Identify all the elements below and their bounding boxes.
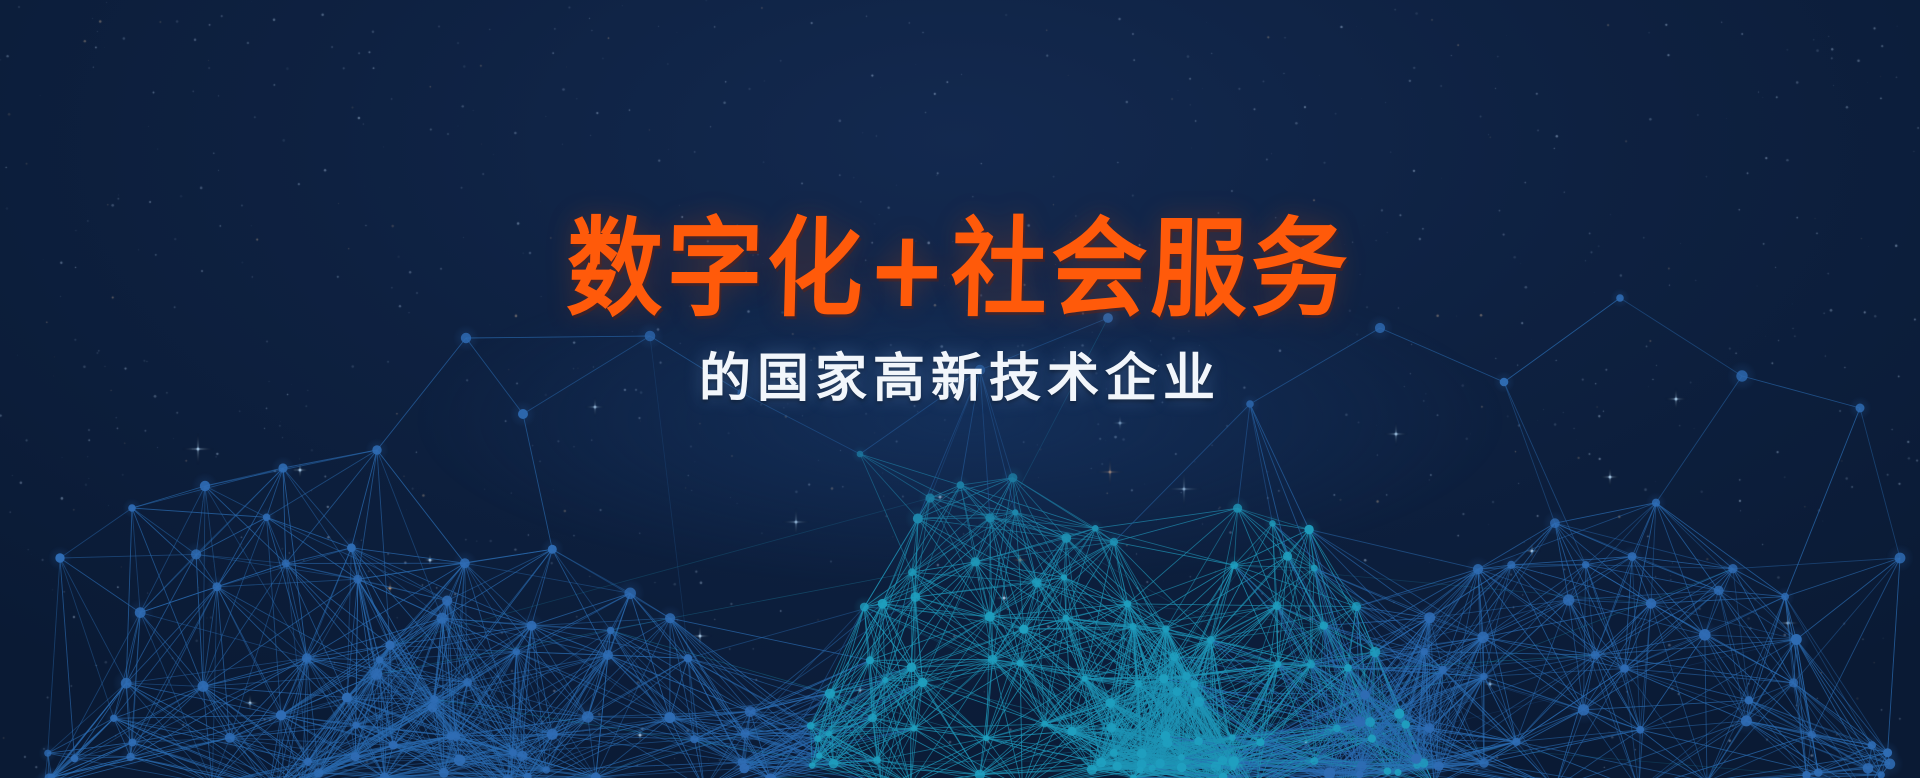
mesh-node: [191, 549, 201, 559]
mesh-node: [1233, 504, 1242, 513]
mesh-node: [314, 768, 324, 778]
mesh-node: [1646, 598, 1656, 608]
mesh-node: [371, 669, 382, 680]
mesh-node: [1424, 723, 1434, 733]
mesh-node: [913, 514, 923, 524]
mesh-node: [1368, 735, 1376, 743]
mesh-node: [1194, 697, 1204, 707]
mesh-node: [1067, 727, 1076, 736]
mesh-node: [1352, 602, 1361, 611]
mesh-node: [911, 592, 921, 602]
mesh-node: [1106, 698, 1115, 707]
mesh-node: [1304, 525, 1313, 534]
mesh-node: [1017, 660, 1024, 667]
mesh-node: [582, 711, 594, 723]
mesh-node: [741, 729, 750, 738]
mesh-node: [857, 451, 864, 458]
mesh-node: [1477, 632, 1488, 643]
mesh-node: [513, 648, 520, 655]
mesh-node: [1856, 404, 1865, 413]
banner-title: 数字化+社会服务: [565, 214, 1352, 326]
mesh-node: [1728, 564, 1737, 573]
mesh-node: [690, 735, 698, 743]
mesh-node: [463, 678, 472, 687]
mesh-node: [985, 513, 994, 522]
mesh-node: [1246, 400, 1254, 408]
mesh-node: [1311, 565, 1318, 572]
mesh-node: [1563, 594, 1574, 605]
mesh-node: [389, 741, 398, 750]
mesh-node: [543, 766, 550, 773]
mesh-node: [1863, 763, 1874, 774]
mesh-node: [128, 504, 136, 512]
mesh-node: [1061, 533, 1071, 543]
mesh-node: [603, 650, 613, 660]
mesh-node: [527, 621, 537, 631]
mesh-node: [347, 543, 356, 552]
mesh-node: [1082, 676, 1088, 682]
mesh-node: [1895, 553, 1906, 564]
mesh-node: [518, 409, 528, 419]
mesh-node: [1333, 725, 1341, 733]
mesh-node: [1714, 586, 1724, 596]
mesh-node: [971, 557, 980, 566]
mesh-node: [198, 681, 209, 692]
mesh-node: [1791, 634, 1802, 645]
mesh-node: [1395, 769, 1402, 776]
mesh-node: [1178, 754, 1185, 761]
mesh-node: [825, 689, 835, 699]
mesh-node: [878, 599, 888, 609]
mesh-node: [1311, 757, 1319, 765]
mesh-node: [1868, 741, 1876, 749]
mesh-node: [1628, 552, 1637, 561]
mesh-node: [1269, 520, 1276, 527]
mesh-node: [342, 693, 352, 703]
mesh-node: [816, 753, 822, 759]
mesh-node: [665, 613, 675, 623]
mesh-node: [1356, 771, 1364, 778]
mesh-node: [1745, 696, 1753, 704]
mesh-node: [814, 735, 821, 742]
mesh-node: [1421, 648, 1428, 655]
mesh-node: [882, 677, 888, 683]
mesh-node: [509, 749, 517, 757]
mesh-node: [1256, 738, 1264, 746]
mesh-node: [1041, 721, 1048, 728]
mesh-node: [957, 481, 965, 489]
mesh-node: [454, 754, 465, 765]
mesh-node: [1228, 757, 1238, 767]
mesh-node: [1507, 561, 1515, 569]
mesh-node: [1170, 652, 1179, 661]
mesh-node: [1808, 731, 1816, 739]
mesh-node: [1061, 574, 1067, 580]
mesh-node: [385, 641, 394, 650]
mesh-node: [1781, 593, 1789, 601]
mesh-node: [829, 759, 839, 769]
mesh-node: [278, 463, 287, 472]
mesh-node: [1636, 726, 1644, 734]
mesh-node: [624, 588, 636, 600]
mesh-node: [907, 663, 917, 673]
mesh-node: [1370, 647, 1380, 657]
mesh-node: [1092, 525, 1099, 532]
mesh-node: [925, 493, 934, 502]
mesh-node: [868, 713, 877, 722]
mesh-node: [860, 603, 869, 612]
mesh-node: [1439, 666, 1447, 674]
mesh-node: [372, 445, 381, 454]
mesh-node: [200, 481, 210, 491]
mesh-node: [1135, 680, 1142, 687]
mesh-node: [213, 582, 222, 591]
mesh-node: [1479, 759, 1488, 768]
mesh-node: [135, 607, 146, 618]
mesh-node: [1012, 509, 1018, 515]
mesh-node: [1394, 709, 1404, 719]
mesh-node: [1578, 704, 1589, 715]
mesh-node: [1307, 660, 1315, 668]
mesh-node: [1106, 723, 1116, 733]
mesh-node: [110, 715, 117, 722]
mesh-node: [1162, 625, 1169, 632]
mesh-node: [1008, 473, 1017, 482]
mesh-node: [44, 750, 51, 757]
mesh-node: [1620, 664, 1629, 673]
hero-banner: 数字化+社会服务 的国家高新技术企业: [0, 0, 1920, 778]
mesh-node: [352, 722, 359, 729]
mesh-node: [1434, 761, 1444, 771]
mesh-node: [302, 653, 312, 663]
mesh-node: [918, 678, 928, 688]
mesh-node: [807, 722, 815, 730]
mesh-node: [1354, 716, 1365, 727]
mesh-node: [988, 655, 998, 665]
mesh-node: [1736, 370, 1747, 381]
mesh-node: [121, 678, 132, 689]
mesh-node: [985, 612, 995, 622]
mesh-node: [866, 656, 874, 664]
mesh-node: [1096, 758, 1106, 768]
mesh-node: [1229, 734, 1236, 741]
mesh-node: [1159, 674, 1168, 683]
mesh-node: [684, 654, 692, 662]
mesh-node: [873, 756, 881, 764]
mesh-node: [1512, 738, 1520, 746]
mesh-node: [1032, 578, 1042, 588]
mesh-node: [911, 726, 917, 732]
mesh-node: [1344, 664, 1352, 672]
mesh-node: [983, 735, 989, 741]
mesh-node: [1411, 754, 1421, 764]
mesh-node: [547, 729, 558, 740]
mesh-node: [1699, 629, 1711, 641]
mesh-node: [1500, 378, 1509, 387]
mesh-node: [282, 559, 290, 567]
mesh-node: [607, 627, 614, 634]
mesh-node: [1273, 601, 1282, 610]
mesh-node: [263, 514, 271, 522]
mesh-node: [1124, 600, 1131, 607]
mesh-node: [1616, 294, 1624, 302]
mesh-node: [353, 575, 362, 584]
mesh-node: [55, 553, 64, 562]
mesh-node: [460, 558, 470, 568]
mesh-node: [1019, 625, 1028, 634]
mesh-node: [1424, 612, 1435, 623]
mesh-node: [439, 768, 449, 778]
mesh-node: [1161, 731, 1171, 741]
mesh-node: [126, 753, 134, 761]
mesh-node: [826, 731, 832, 737]
mesh-node: [276, 710, 286, 720]
mesh-node: [461, 333, 471, 343]
mesh-node: [1789, 678, 1798, 687]
mesh-node: [809, 762, 815, 768]
mesh-node: [1182, 672, 1190, 680]
mesh-node: [745, 706, 756, 717]
mesh-node: [1283, 552, 1292, 561]
mesh-node: [351, 752, 360, 761]
mesh-node: [430, 695, 438, 703]
mesh-node: [71, 755, 79, 763]
mesh-node: [1194, 737, 1203, 746]
mesh-node: [664, 712, 675, 723]
mesh-node: [739, 764, 749, 774]
mesh-node: [645, 331, 656, 342]
mesh-node: [1275, 661, 1282, 668]
mesh-node: [1137, 749, 1147, 759]
mesh-node: [1110, 538, 1118, 546]
mesh-node: [128, 739, 136, 747]
mesh-node: [1173, 687, 1182, 696]
mesh-node: [225, 733, 235, 743]
mesh-node: [1550, 518, 1560, 528]
mesh-node: [1591, 651, 1600, 660]
mesh-node: [1480, 673, 1487, 680]
mesh-node: [1360, 690, 1369, 699]
mesh-node: [1130, 623, 1137, 630]
mesh-node: [451, 732, 460, 741]
mesh-node: [437, 613, 448, 624]
mesh-node: [1473, 564, 1483, 574]
mesh-node: [1113, 762, 1122, 771]
mesh-node: [1320, 621, 1328, 629]
mesh-node: [1652, 499, 1660, 507]
mesh-node: [908, 568, 916, 576]
mesh-node: [1149, 765, 1156, 772]
mesh-node: [1582, 561, 1589, 568]
mesh-node: [1230, 561, 1238, 569]
mesh-node: [548, 545, 557, 554]
mesh-node: [1207, 636, 1215, 644]
banner-subtitle: 的国家高新技术企业: [699, 336, 1221, 411]
mesh-node: [1375, 323, 1385, 333]
mesh-node: [1063, 615, 1070, 622]
mesh-node: [1741, 715, 1752, 726]
